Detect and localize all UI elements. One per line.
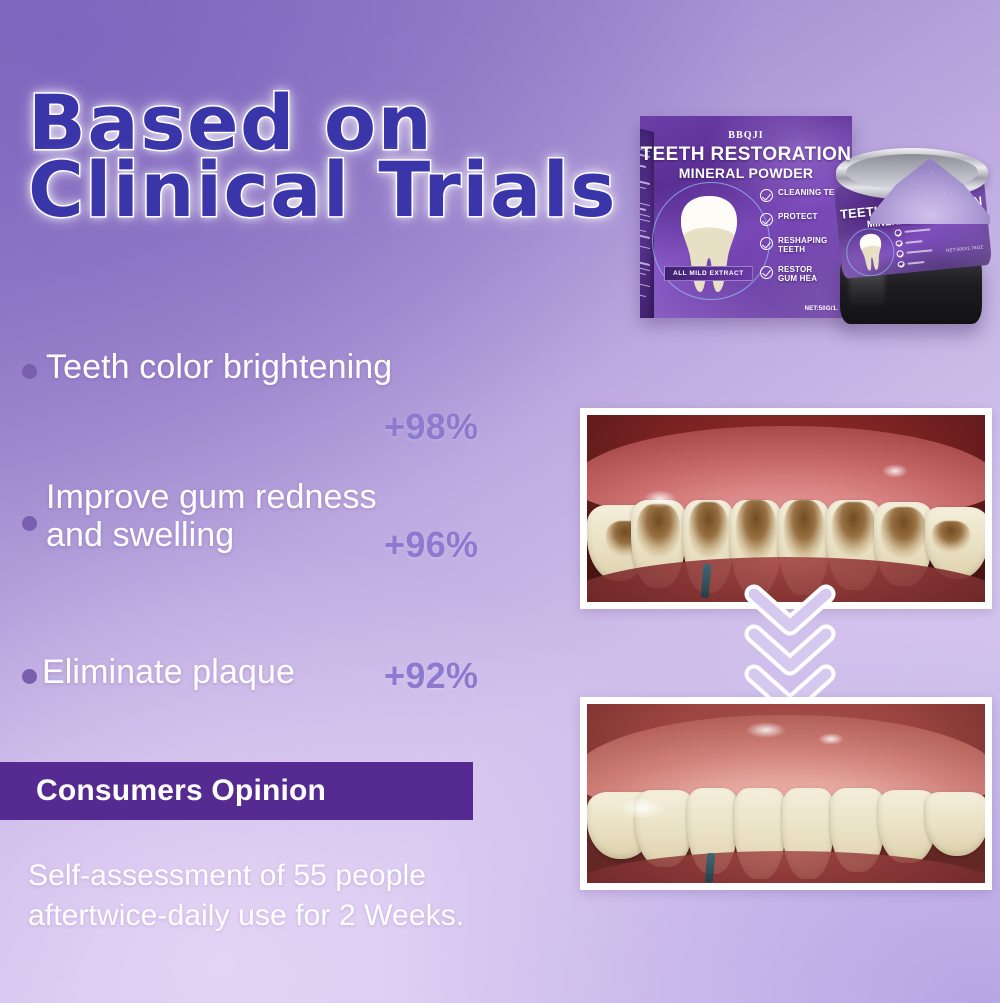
headline-line-2: Clinical Trials <box>28 155 708 226</box>
jar-feature-item <box>894 226 930 236</box>
benefit-label: Improve gum redness and swelling <box>46 478 377 554</box>
jar-feature-text-line <box>906 250 932 254</box>
tooth-icon <box>858 232 886 272</box>
before-photo <box>580 408 992 609</box>
benefit-percent: +92% <box>384 655 478 697</box>
jar-net-weight: NET:50G/1.76OZ <box>946 244 984 253</box>
box-net-weight: NET:50G/1. <box>805 306 838 312</box>
after-photo-image <box>587 704 985 883</box>
box-feature-label-line-2: GUM HEA <box>778 274 817 283</box>
product-jar: BBQJI TEETH RESTORATION MINERAL POWDER N… <box>828 106 996 338</box>
box-title-line-2: MINERAL POWDER <box>640 165 852 181</box>
bullet-icon <box>22 364 37 379</box>
check-icon <box>760 266 773 279</box>
product-box: BBQJI TEETH RESTORATION MINERAL POWDER A… <box>640 116 852 318</box>
tooth-stain <box>881 507 926 559</box>
box-ribbon-label: ALL MILD EXTRACT <box>664 266 753 281</box>
bullet-icon <box>22 669 37 684</box>
box-feature-list: CLEANING TE PROTECT RESHAPING TEETH <box>760 188 834 284</box>
before-photo-image <box>587 415 985 602</box>
box-feature-label-line-2: TEETH <box>778 245 805 254</box>
highlight <box>619 797 665 819</box>
promo-poster: Based on Clinical Trials BBQJI TEETH RES… <box>0 0 1000 1003</box>
benefit-label-line-2: and swelling <box>46 516 234 554</box>
jar-feature-item <box>895 237 931 247</box>
box-title-line-1: TEETH RESTORATION <box>640 144 852 166</box>
benefit-label-line-1: Improve gum redness <box>46 478 377 516</box>
check-icon <box>897 261 904 268</box>
tooth-stain <box>784 500 823 563</box>
jar-feature-text-line <box>904 229 930 233</box>
benefit-percent: +98% <box>384 406 478 448</box>
benefit-percent: +96% <box>384 524 478 566</box>
box-feature-label: PROTECT <box>778 212 818 221</box>
tooth <box>925 792 989 856</box>
box-feature-label: RESTOR GUM HEA <box>778 265 817 284</box>
jar-feature-item <box>897 258 933 268</box>
jar-feature-item <box>896 247 932 257</box>
consumers-opinion-title: Consumers Opinion <box>36 774 326 808</box>
jar-feature-text-line <box>907 261 924 265</box>
jar-opening <box>846 154 978 190</box>
bullet-icon <box>22 516 37 531</box>
highlight <box>643 490 677 508</box>
highlight <box>882 464 908 478</box>
tooth-stain <box>932 521 970 553</box>
check-icon <box>896 250 903 257</box>
check-icon <box>895 240 902 247</box>
benefit-label: Eliminate plaque <box>42 653 295 691</box>
box-feature-label-line-1: RESHAPING <box>778 236 827 245</box>
check-icon <box>760 213 773 226</box>
study-footnote: Self-assessment of 55 people aftertwice-… <box>28 856 588 935</box>
box-brand-label: BBQJI <box>640 130 852 141</box>
box-feature-label-line-1: RESTOR <box>778 265 812 274</box>
tooth-stain <box>832 502 874 558</box>
footnote-line-2: aftertwice-daily use for 2 Weeks. <box>28 899 464 932</box>
after-photo <box>580 697 992 890</box>
highlight <box>818 733 844 745</box>
box-feature-label: RESHAPING TEETH <box>778 236 827 255</box>
box-feature-item: CLEANING TE <box>760 188 834 202</box>
box-feature-item: PROTECT <box>760 212 834 226</box>
page-title: Based on Clinical Trials <box>28 88 708 225</box>
box-feature-item: RESHAPING TEETH <box>760 236 834 255</box>
footnote-line-1: Self-assessment of 55 people <box>28 859 426 892</box>
tooth-stain <box>736 500 775 563</box>
box-feature-item: RESTOR GUM HEA <box>760 265 834 284</box>
consumers-opinion-banner: Consumers Opinion <box>0 762 473 820</box>
check-icon <box>760 189 773 202</box>
tooth-stain <box>689 502 728 560</box>
tooth-stain <box>637 504 679 559</box>
benefit-label: Teeth color brightening <box>46 348 392 386</box>
highlight <box>746 722 786 738</box>
box-feature-label: CLEANING TE <box>778 188 834 197</box>
check-icon <box>760 237 773 250</box>
jar-feature-text-line <box>905 240 922 244</box>
product-shot: BBQJI TEETH RESTORATION MINERAL POWDER A… <box>632 100 1000 345</box>
jar-feature-list <box>894 226 933 267</box>
check-icon <box>894 229 901 236</box>
